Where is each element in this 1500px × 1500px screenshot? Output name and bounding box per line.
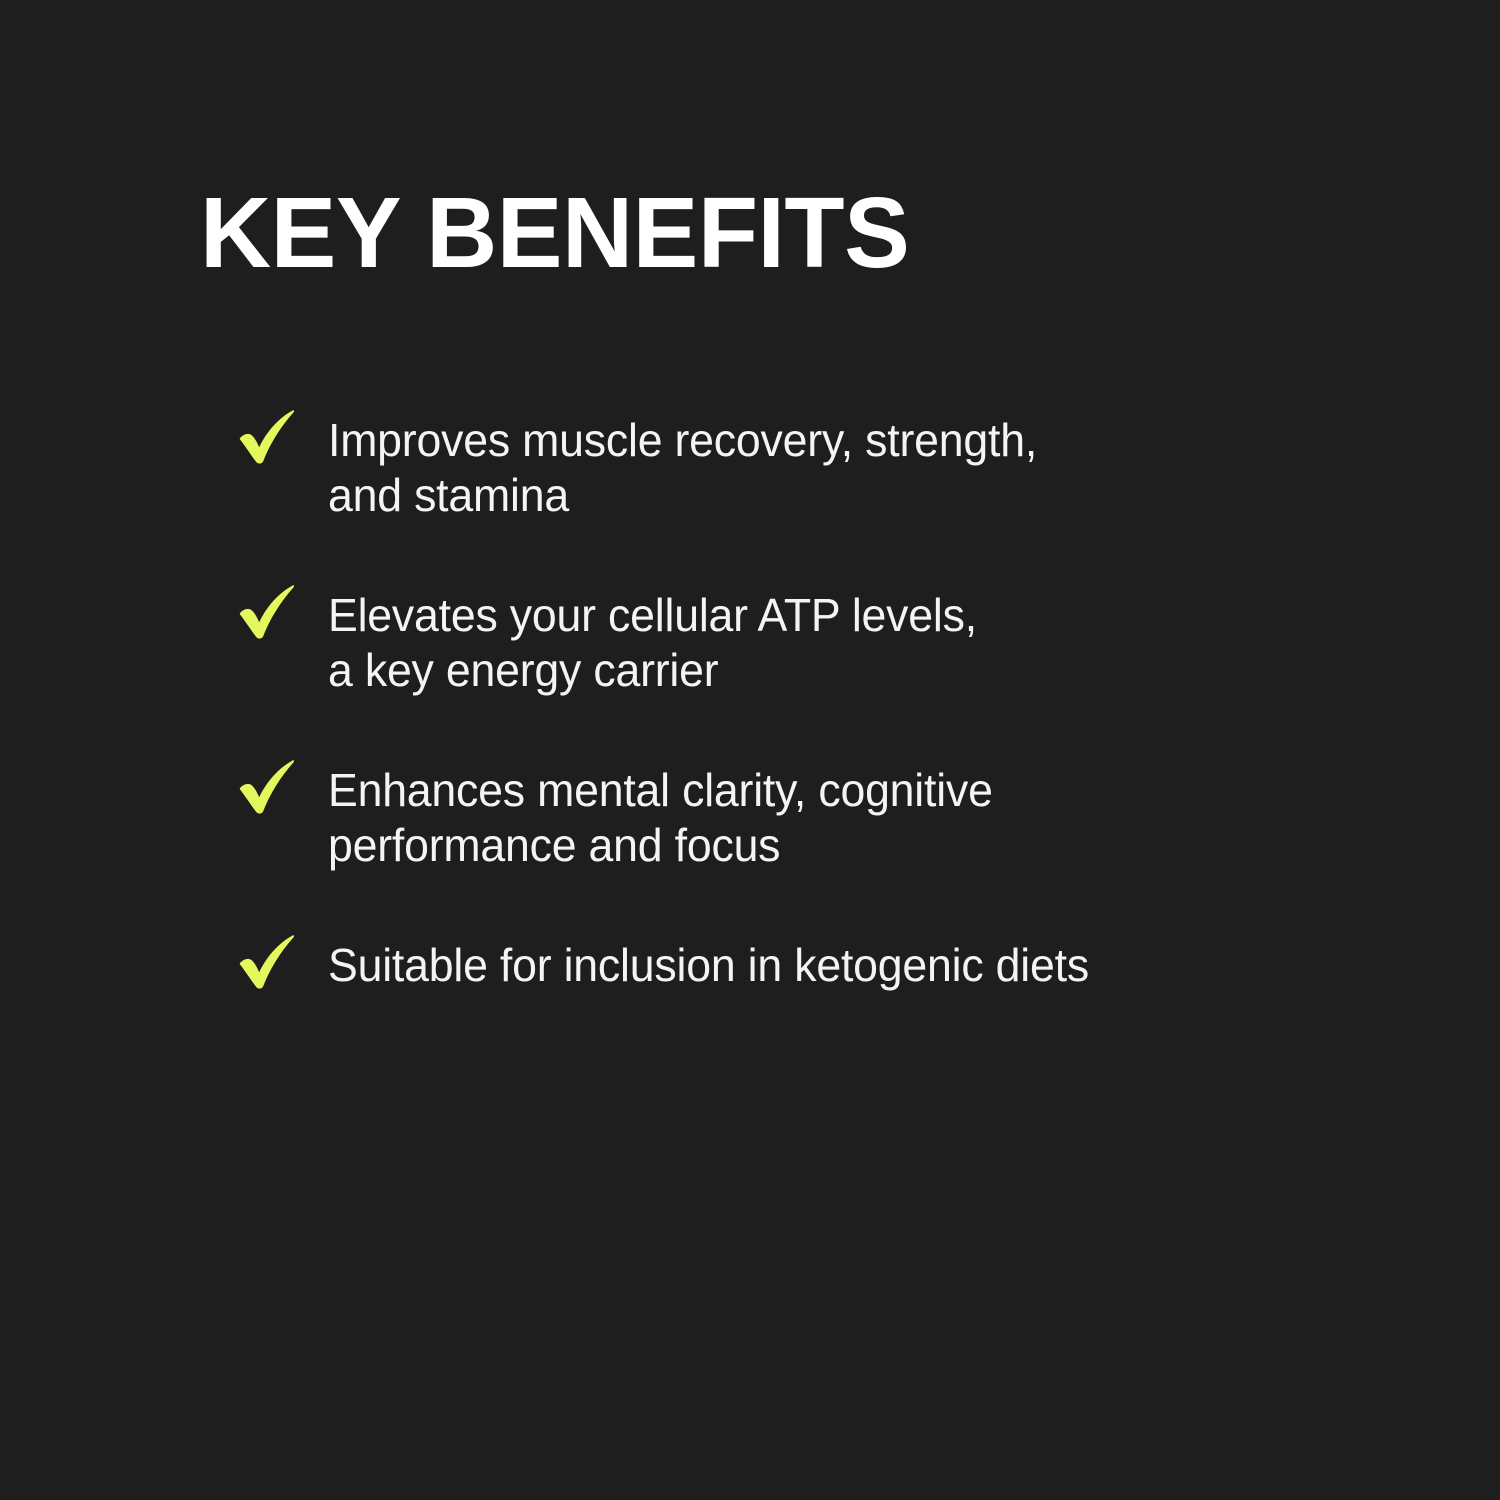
key-benefits-panel: KEY BENEFITS Improves muscle recovery, s… bbox=[0, 0, 1500, 1500]
checkmark-icon bbox=[236, 933, 298, 995]
checkmark-icon bbox=[236, 583, 298, 645]
list-item-label: Suitable for inclusion in ketogenic diet… bbox=[328, 930, 1306, 993]
benefits-list: Improves muscle recovery, strength, and … bbox=[236, 405, 1336, 995]
list-item: Improves muscle recovery, strength, and … bbox=[236, 405, 1336, 523]
list-item-label: Enhances mental clarity, cognitive perfo… bbox=[328, 755, 1306, 873]
list-item: Elevates your cellular ATP levels, a key… bbox=[236, 580, 1336, 698]
checkmark-icon bbox=[236, 408, 298, 470]
list-item: Enhances mental clarity, cognitive perfo… bbox=[236, 755, 1336, 873]
checkmark-icon bbox=[236, 758, 298, 820]
page-title: KEY BENEFITS bbox=[200, 183, 909, 283]
list-item-label: Elevates your cellular ATP levels, a key… bbox=[328, 580, 1306, 698]
list-item-label: Improves muscle recovery, strength, and … bbox=[328, 405, 1306, 523]
list-item: Suitable for inclusion in ketogenic diet… bbox=[236, 930, 1336, 995]
